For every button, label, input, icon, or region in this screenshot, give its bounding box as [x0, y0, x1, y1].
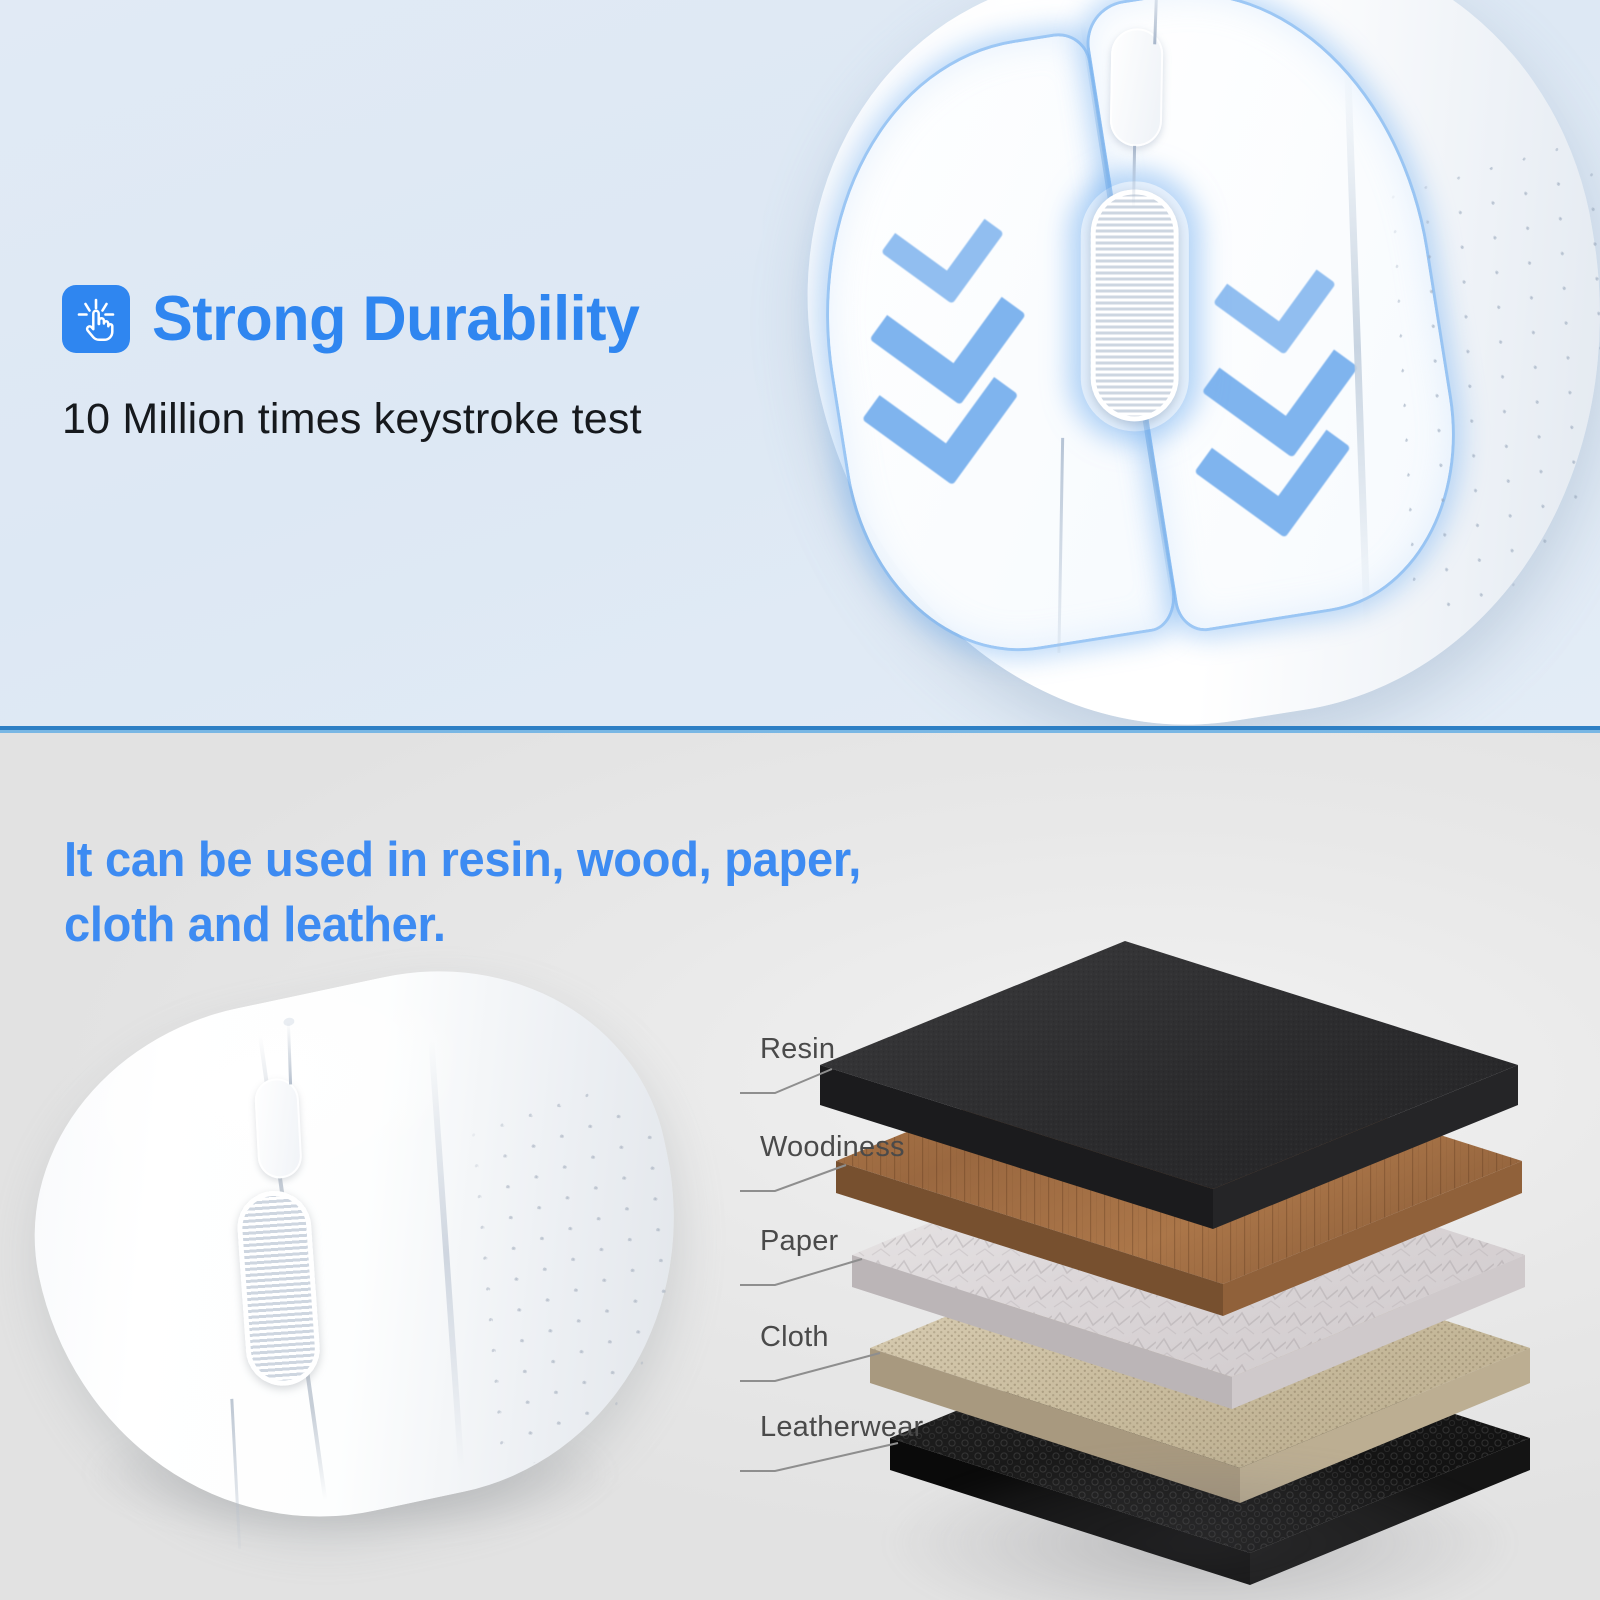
section-title: Strong Durability — [152, 288, 639, 351]
durability-text-block: Strong Durability 10 Million times keyst… — [62, 285, 655, 444]
product-feature-page: Strong Durability 10 Million times keyst… — [0, 0, 1600, 1600]
scroll-wheel — [1091, 189, 1179, 421]
side-grip-texture-secondary — [1392, 128, 1600, 626]
materials-headline-line1: It can be used in resin, wood, paper, — [64, 828, 861, 893]
strong-durability-section: Strong Durability 10 Million times keyst… — [0, 0, 1600, 726]
material-stack-diagram: Resin Woodiness Paper Cloth Leatherwear — [740, 893, 1600, 1593]
leader-leatherwear — [740, 1443, 898, 1471]
section-subtitle: 10 Million times keystroke test — [62, 395, 655, 444]
dpi-button — [1110, 28, 1164, 147]
leader-woodiness — [740, 1165, 846, 1191]
leader-cloth — [740, 1353, 880, 1381]
material-label-cloth: Cloth — [760, 1321, 829, 1354]
materials-section: It can be used in resin, wood, paper, cl… — [0, 733, 1600, 1600]
material-label-paper: Paper — [760, 1225, 838, 1258]
material-label-leatherwear: Leatherwear — [760, 1411, 923, 1444]
mouse-closeup-image — [775, 0, 1600, 726]
click-hand-icon — [62, 285, 130, 353]
leader-paper — [740, 1259, 862, 1285]
leader-resin — [740, 1069, 832, 1093]
scroll-wheel — [235, 1188, 322, 1388]
dpi-button — [254, 1077, 303, 1179]
material-label-resin: Resin — [760, 1033, 835, 1066]
material-label-woodiness: Woodiness — [760, 1131, 905, 1164]
mouse-product-image — [30, 978, 730, 1538]
